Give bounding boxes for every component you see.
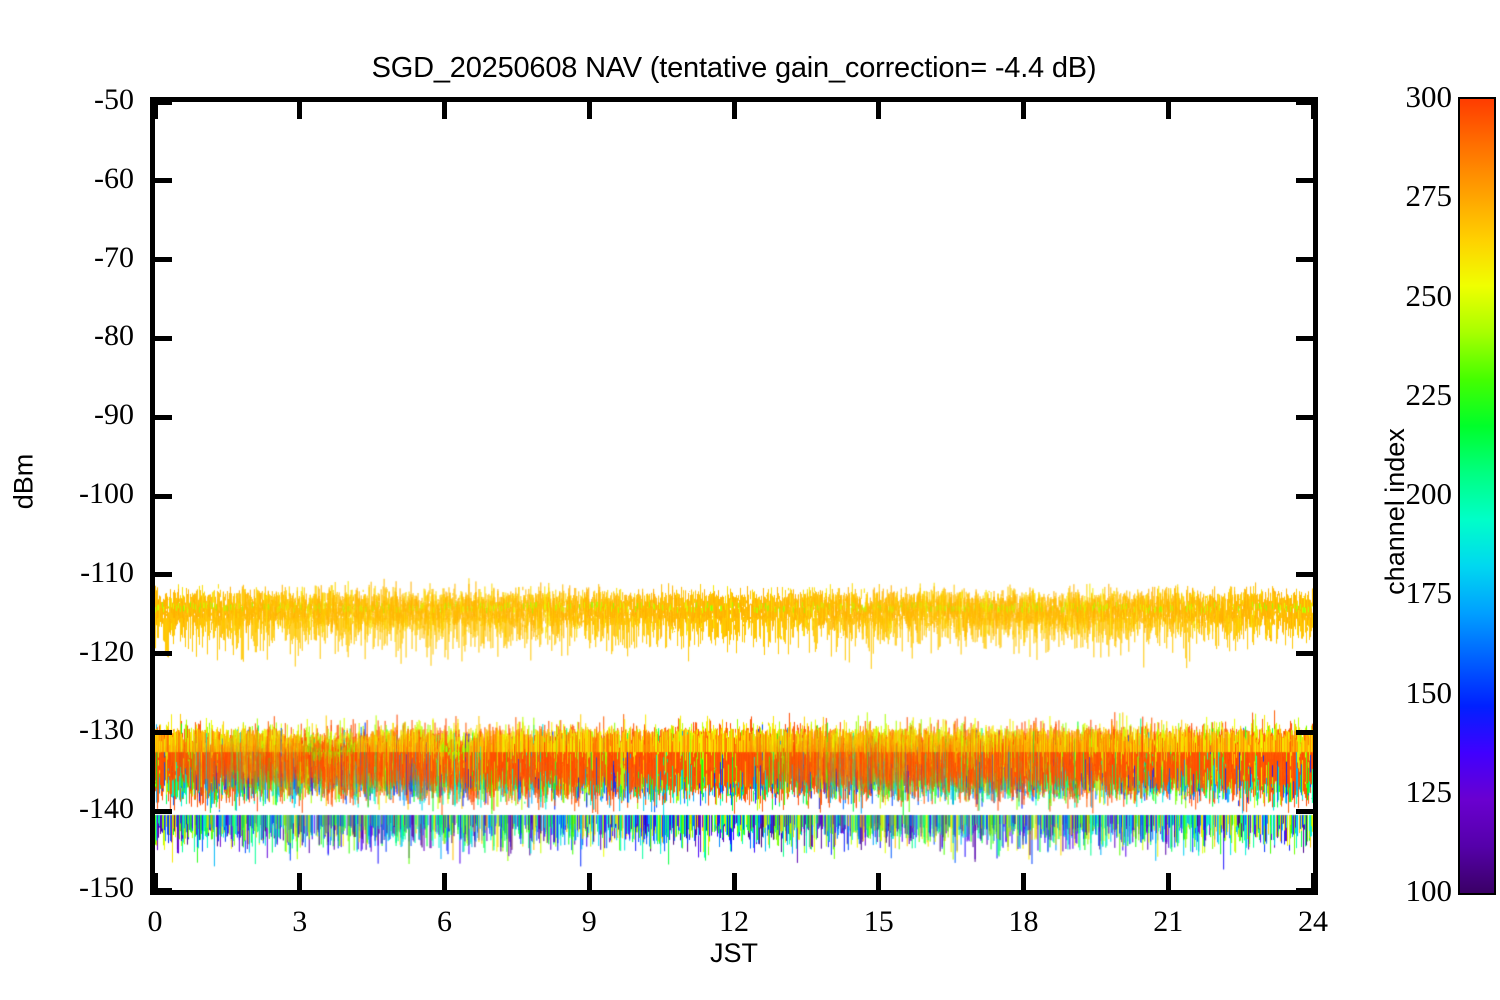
x-tick-mark <box>442 97 447 119</box>
y-tick-mark <box>150 809 172 814</box>
page-title: SGD_20250608 NAV (tentative gain_correct… <box>0 52 1468 85</box>
x-tick-mark <box>297 873 302 895</box>
x-tick-label: 21 <box>1128 905 1208 939</box>
y-tick-mark <box>150 730 172 735</box>
colorbar <box>1458 97 1496 895</box>
y-tick-mark <box>1296 415 1318 420</box>
x-tick-label: 24 <box>1273 905 1353 939</box>
x-tick-mark <box>876 873 881 895</box>
y-tick-label: -70 <box>8 241 134 275</box>
x-tick-label: 6 <box>405 905 485 939</box>
y-tick-label: -150 <box>8 871 134 905</box>
colorbar-tick-label: 200 <box>1370 476 1452 512</box>
x-tick-mark <box>876 97 881 119</box>
y-tick-mark <box>150 415 172 420</box>
y-tick-mark <box>1296 336 1318 341</box>
y-tick-mark <box>1296 178 1318 183</box>
x-tick-mark <box>587 97 592 119</box>
colorbar-tick-label: 125 <box>1370 774 1452 810</box>
x-tick-mark <box>442 873 447 895</box>
y-tick-mark <box>1296 494 1318 499</box>
y-tick-mark <box>150 257 172 262</box>
x-axis-title: JST <box>0 938 1468 969</box>
x-tick-mark <box>1021 97 1026 119</box>
y-tick-label: -50 <box>8 83 134 117</box>
y-tick-mark <box>150 651 172 656</box>
y-tick-mark <box>1296 257 1318 262</box>
y-tick-label: -80 <box>8 319 134 353</box>
x-tick-label: 9 <box>549 905 629 939</box>
y-tick-mark <box>1296 572 1318 577</box>
x-tick-mark <box>1311 873 1316 895</box>
x-tick-mark <box>1311 97 1316 119</box>
colorbar-tick-label: 100 <box>1370 873 1452 909</box>
x-tick-label: 3 <box>260 905 340 939</box>
x-tick-mark <box>1021 873 1026 895</box>
x-tick-mark <box>297 97 302 119</box>
spectrum-trace-canvas <box>155 102 1313 890</box>
y-tick-mark <box>150 494 172 499</box>
y-tick-label: -100 <box>8 477 134 511</box>
y-tick-mark <box>150 178 172 183</box>
y-tick-mark <box>150 572 172 577</box>
x-tick-mark <box>1166 97 1171 119</box>
x-tick-mark <box>153 873 158 895</box>
y-tick-label: -140 <box>8 792 134 826</box>
y-tick-mark <box>1296 730 1318 735</box>
colorbar-tick-label: 225 <box>1370 377 1452 413</box>
y-tick-label: -60 <box>8 162 134 196</box>
plot-data-area <box>155 102 1313 890</box>
y-tick-label: -130 <box>8 713 134 747</box>
y-tick-label: -120 <box>8 635 134 669</box>
colorbar-gradient <box>1458 97 1496 895</box>
x-tick-mark <box>153 97 158 119</box>
y-tick-label: -110 <box>8 556 134 590</box>
y-tick-mark <box>1296 809 1318 814</box>
y-tick-mark <box>1296 651 1318 656</box>
x-tick-mark <box>1166 873 1171 895</box>
y-tick-label: -90 <box>8 398 134 432</box>
colorbar-tick-label: 275 <box>1370 178 1452 214</box>
x-tick-label: 0 <box>115 905 195 939</box>
colorbar-tick-label: 150 <box>1370 675 1452 711</box>
x-tick-label: 15 <box>839 905 919 939</box>
x-tick-mark <box>587 873 592 895</box>
x-tick-label: 12 <box>694 905 774 939</box>
colorbar-tick-label: 175 <box>1370 575 1452 611</box>
y-tick-mark <box>150 336 172 341</box>
colorbar-tick-label: 250 <box>1370 278 1452 314</box>
x-tick-mark <box>732 873 737 895</box>
x-tick-label: 18 <box>984 905 1064 939</box>
x-tick-mark <box>732 97 737 119</box>
spectrum-plot-figure: SGD_20250608 NAV (tentative gain_correct… <box>0 0 1500 1000</box>
colorbar-tick-label: 300 <box>1370 79 1452 115</box>
